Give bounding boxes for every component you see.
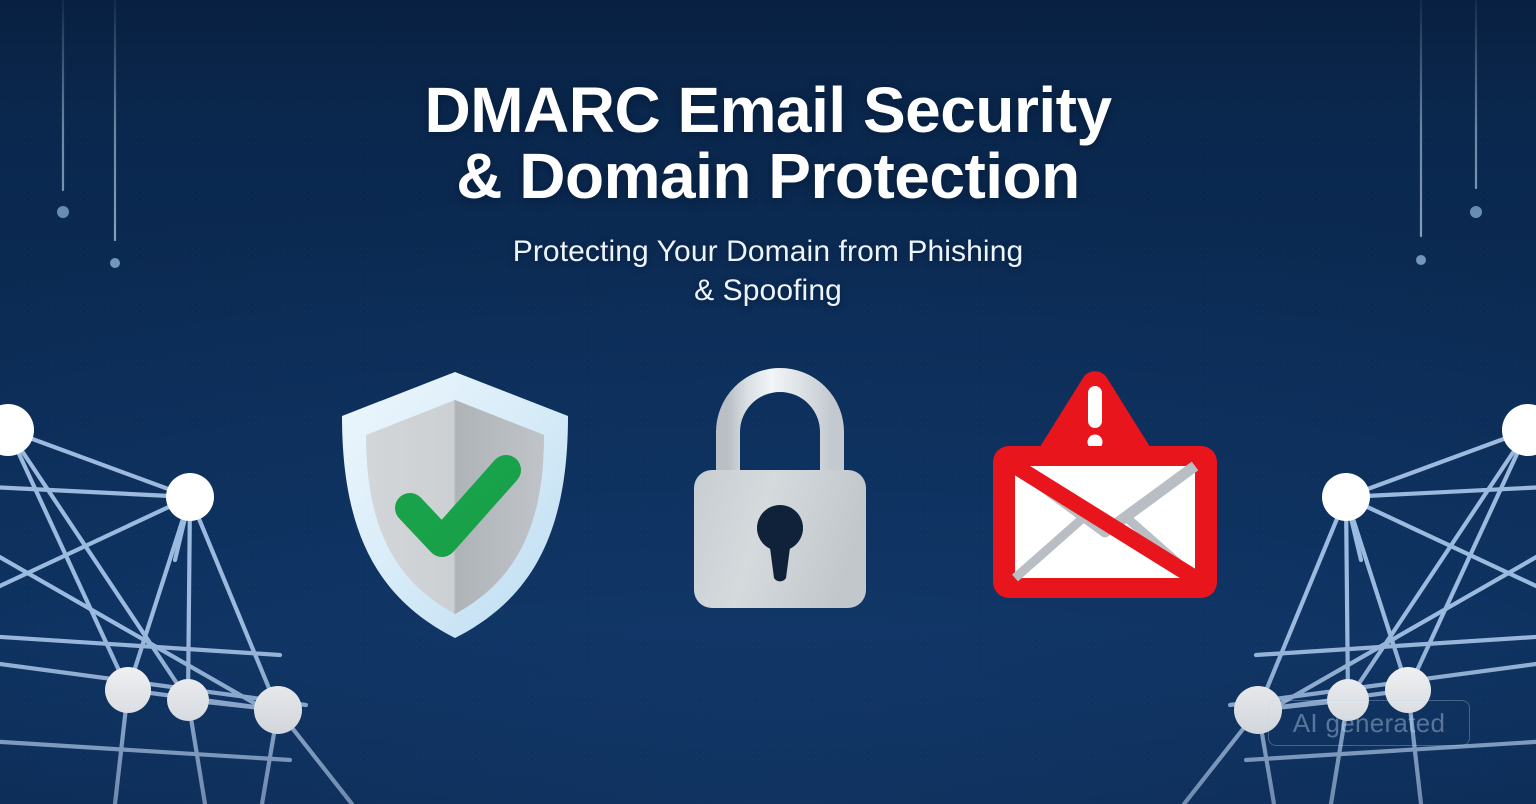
ai-generated-watermark: AI generated — [1268, 700, 1470, 746]
subtitle-line-2: & Spoofing — [0, 271, 1536, 311]
watermark-label: AI generated — [1293, 708, 1446, 739]
padlock-icon — [660, 360, 900, 620]
hero-banner: DMARC Email Security & Domain Protection… — [0, 0, 1536, 804]
blocked-email-warning-icon — [975, 360, 1245, 610]
lock-shackle — [728, 380, 832, 482]
title-line-2: & Domain Protection — [0, 144, 1536, 210]
page-title: DMARC Email Security & Domain Protection — [0, 78, 1536, 210]
icon-row — [0, 360, 1536, 660]
hero-text-block: DMARC Email Security & Domain Protection… — [0, 78, 1536, 311]
subtitle-line-1: Protecting Your Domain from Phishing — [513, 235, 1024, 268]
page-subtitle: Protecting Your Domain from Phishing & S… — [0, 232, 1536, 311]
title-line-1: DMARC Email Security — [424, 74, 1111, 146]
shield-check-icon — [320, 360, 590, 650]
exclamation-bar — [1088, 386, 1102, 428]
